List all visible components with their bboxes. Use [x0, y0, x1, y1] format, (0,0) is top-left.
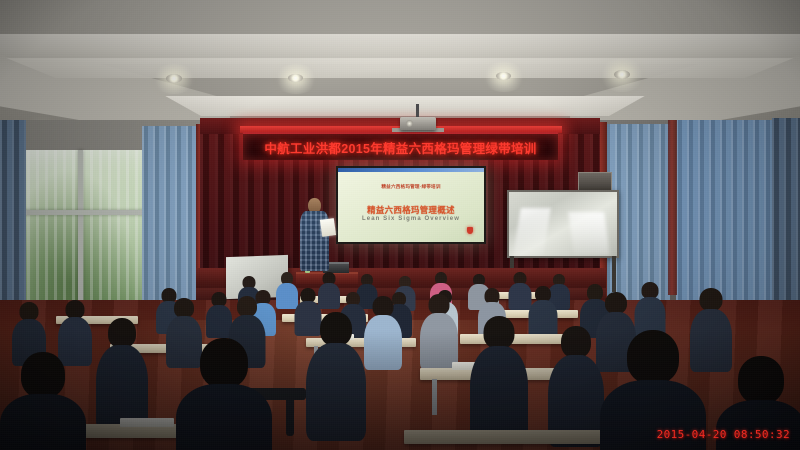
seated-person-foreground: [176, 338, 272, 450]
person-head: [200, 338, 248, 388]
seated-person: [318, 272, 340, 308]
seated-person-foreground: [0, 352, 86, 450]
person-head: [605, 292, 627, 314]
seated-person: [420, 294, 458, 368]
person-head: [738, 356, 784, 404]
person-body: [364, 315, 402, 370]
projector-lens: [406, 120, 413, 127]
window-transom: [18, 210, 148, 215]
person-head: [561, 326, 591, 358]
ceiling-beam-secondary: [0, 58, 800, 78]
person-head: [484, 316, 515, 349]
whiteboard: [507, 190, 619, 258]
seated-person: [548, 326, 604, 444]
powerpoint-title-bar: [338, 168, 484, 172]
slide-header-text: 精益六西格玛管理·绿带培训: [338, 184, 484, 190]
seated-person: [634, 282, 665, 336]
seated-person: [470, 316, 528, 438]
person-body: [470, 346, 528, 441]
led-banner: 中航工业洪都2015年精益六西格玛管理绿带培训: [243, 132, 558, 160]
person-head: [627, 330, 679, 384]
person-body: [306, 343, 366, 441]
ceiling-light-3: [496, 72, 511, 80]
ceiling-projector: [400, 117, 436, 130]
desk-foreground: [404, 430, 614, 444]
slide-title-text: 精益六西格玛管理概述: [338, 204, 484, 216]
red-flame-logo-icon: [467, 227, 473, 234]
instructor-handout: [320, 218, 336, 237]
whiteboard-glare: [568, 212, 609, 256]
seated-person: [96, 318, 148, 428]
paper-on-desk: [120, 418, 174, 427]
seated-person: [364, 296, 402, 368]
led-banner-text: 中航工业洪都2015年精益六西格玛管理绿带培训: [264, 138, 536, 157]
ceiling-beam-inner: [150, 96, 660, 116]
slide-subtitle-text: Lean Six Sigma Overview: [338, 216, 484, 222]
person-head: [21, 352, 65, 398]
ceiling-light-1: [166, 74, 182, 83]
ceiling-light-4: [614, 70, 630, 79]
person-body: [318, 283, 340, 309]
person-body: [716, 400, 800, 450]
desk-leg: [432, 379, 437, 415]
classroom-photo: 中航工业洪都2015年精益六西格玛管理绿带培训 精益六西格玛管理·绿带培训 精益…: [0, 0, 800, 450]
person-head: [700, 288, 723, 311]
presentation-slide: 精益六西格玛管理·绿带培训 精益六西格玛管理概述 Lean Six Sigma …: [338, 168, 484, 242]
person-head: [108, 318, 136, 348]
person-head: [174, 298, 194, 318]
chair-leg: [286, 396, 294, 436]
wall-column-right-2: [668, 120, 677, 295]
ceiling-light-2: [288, 74, 303, 82]
whiteboard-glare: [513, 208, 551, 256]
person-head: [373, 296, 394, 317]
projection-screen: 精益六西格玛管理·绿带培训 精益六西格玛管理概述 Lean Six Sigma …: [336, 166, 486, 244]
person-head: [429, 294, 450, 315]
whiteboard-leg-right: [612, 256, 616, 292]
person-head: [320, 312, 352, 346]
camera-timestamp: 2015-04-20 08:50:32: [657, 428, 790, 441]
seated-person: [306, 312, 366, 437]
person-body: [0, 394, 86, 450]
person-body: [176, 384, 272, 450]
whiteboard-upper-panel: [578, 172, 612, 192]
person-head: [237, 296, 257, 317]
